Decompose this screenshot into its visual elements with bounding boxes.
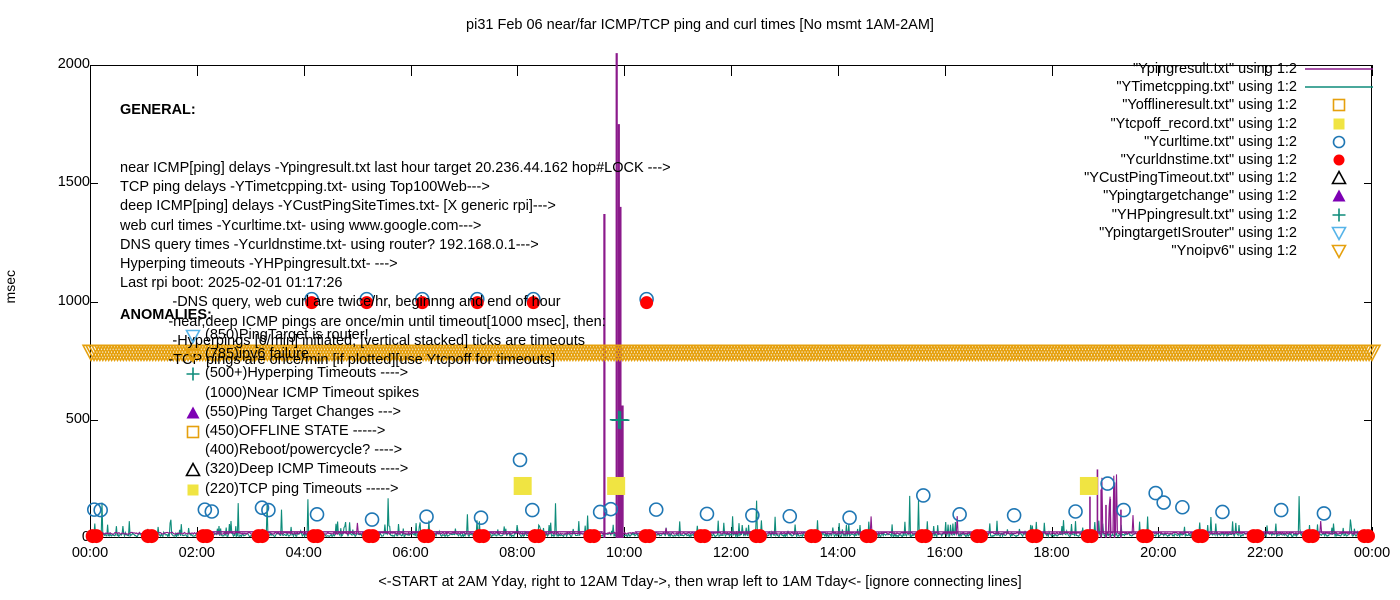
anomaly-marker-filled-square-icon: [183, 480, 203, 499]
legend-label: "Ytcpoff_record.txt" using 1:2: [1110, 115, 1297, 133]
legend-key-open-square-icon: [1303, 96, 1375, 114]
anomaly-row: (550)Ping Target Changes --->: [205, 403, 419, 422]
data-point-filled-circle: [421, 529, 435, 543]
anomaly-row: (450)OFFLINE STATE ----->: [205, 422, 419, 441]
y-tick-label: 2000: [30, 56, 90, 72]
data-point-filled-circle: [698, 529, 712, 543]
anomaly-marker-open-triangle-down-icon: [183, 326, 203, 345]
x-tick-label: 20:00: [1123, 545, 1193, 561]
general-note-line: Last rpi boot: 2025-02-01 01:17:26: [120, 274, 671, 293]
legend-key-filled-square-icon: [1303, 115, 1375, 133]
data-point-open-circle: [1008, 509, 1021, 522]
anomaly-label: (785)ipv6 failure: [205, 346, 309, 362]
data-point-open-circle: [420, 510, 433, 523]
data-point-open-circle: [917, 489, 930, 502]
legend-key-filled-circle-icon: [1303, 151, 1375, 169]
legend-item: "Ypingtargetchange" using 1:2: [1020, 187, 1375, 205]
legend-item: "Ytcpoff_record.txt" using 1:2: [1020, 115, 1375, 133]
anomalies-list: (850)PingTarget is router!(785)ipv6 fail…: [205, 326, 419, 499]
data-point-filled-circle: [642, 529, 656, 543]
anomaly-row: (785)ipv6 failure: [205, 345, 419, 364]
anomaly-label: (850)PingTarget is router!: [205, 327, 369, 343]
legend-key: [1303, 60, 1375, 78]
data-point-open-circle: [526, 504, 539, 517]
data-point-filled-circle: [255, 529, 269, 543]
legend-label: "Ycurldnstime.txt" using 1:2: [1121, 151, 1297, 169]
general-note-line: near ICMP[ping] delays -Ypingresult.txt …: [120, 159, 671, 178]
data-point-open-circle: [650, 503, 663, 516]
x-tick-label: 16:00: [910, 545, 980, 561]
data-point-open-circle: [1216, 505, 1229, 518]
legend-key-open-triangle-up-icon: [1303, 169, 1375, 187]
legend-key: [1303, 206, 1375, 224]
x-tick-label: 00:00: [1337, 545, 1400, 561]
general-note-line: TCP ping delays -YTimetcpping.txt- using…: [120, 178, 671, 197]
data-point-filled-circle: [753, 529, 767, 543]
data-point-filled-square: [1080, 477, 1098, 495]
legend-key: [1303, 115, 1375, 133]
legend-label: "Yofflineresult.txt" using 1:2: [1122, 96, 1297, 114]
data-point-filled-circle: [1195, 529, 1209, 543]
data-point-open-circle: [1117, 504, 1130, 517]
anomaly-marker-open-square-icon: [183, 422, 203, 441]
anomaly-row: (850)PingTarget is router!: [205, 326, 419, 345]
anomaly-row: (1000)Near ICMP Timeout spikes: [205, 384, 419, 403]
data-point-open-circle: [1275, 504, 1288, 517]
anomaly-label: (450)OFFLINE STATE ----->: [205, 423, 385, 439]
x-tick-label: 06:00: [376, 545, 446, 561]
legend-item: "Ycurldnstime.txt" using 1:2: [1020, 151, 1375, 169]
legend-key-plus-icon: [1303, 206, 1375, 224]
legend-key-line-icon: [1303, 60, 1375, 78]
data-point-filled-circle: [1306, 529, 1320, 543]
general-note-line: deep ICMP[ping] delays -YCustPingSiteTim…: [120, 197, 671, 216]
anomaly-row: (500+)Hyperping Timeouts ---->: [205, 364, 419, 383]
data-point-filled-circle: [1250, 529, 1264, 543]
data-point-open-circle: [1069, 505, 1082, 518]
anomaly-marker-plus-icon: [183, 364, 203, 383]
data-point-open-circle: [475, 511, 488, 524]
x-tick-label: 04:00: [269, 545, 339, 561]
data-point-filled-circle: [311, 529, 325, 543]
data-point-open-circle: [953, 508, 966, 521]
legend-item: "Ynoipv6" using 1:2: [1020, 242, 1375, 260]
legend: "Ypingresult.txt" using 1:2"YTimetcpping…: [1020, 60, 1375, 260]
data-point-open-circle: [366, 513, 379, 526]
data-point-filled-circle: [974, 529, 988, 543]
anomaly-row: (400)Reboot/powercycle? ---->: [205, 441, 419, 460]
x-tick-label: 00:00: [55, 545, 125, 561]
x-tick-label: 10:00: [589, 545, 659, 561]
legend-key: [1303, 187, 1375, 205]
legend-key: [1303, 224, 1375, 242]
data-point-plus: [611, 411, 629, 429]
data-point-filled-circle: [587, 529, 601, 543]
legend-key-open-circle-icon: [1303, 133, 1375, 151]
legend-label: "Ynoipv6" using 1:2: [1171, 242, 1297, 260]
legend-label: "Ypingtargetchange" using 1:2: [1103, 187, 1297, 205]
data-point-filled-circle: [200, 529, 214, 543]
general-note-line: Hyperping timeouts -YHPpingresult.txt- -…: [120, 255, 671, 274]
legend-label: "YHPpingresult.txt" using 1:2: [1112, 206, 1297, 224]
data-point-open-circle: [1317, 507, 1330, 520]
data-point-filled-circle: [1140, 529, 1154, 543]
data-point-filled-circle: [476, 529, 490, 543]
legend-label: "YpingtargetISrouter" using 1:2: [1099, 224, 1297, 242]
data-point-filled-circle: [1085, 529, 1099, 543]
general-note-line: DNS query times -Ycurldnstime.txt- using…: [120, 236, 671, 255]
data-point-filled-circle: [1361, 529, 1375, 543]
legend-item: "YpingtargetISrouter" using 1:2: [1020, 224, 1375, 242]
data-point-open-circle: [700, 507, 713, 520]
legend-key-filled-triangle-up-icon: [1303, 187, 1375, 205]
general-note-line: web curl times -Ycurltime.txt- using www…: [120, 217, 671, 236]
y-axis-label: msec: [2, 270, 18, 303]
x-tick-label: 02:00: [162, 545, 232, 561]
data-point-open-circle: [311, 508, 324, 521]
data-point-filled-circle: [1029, 529, 1043, 543]
data-point-open-circle: [1176, 501, 1189, 514]
legend-key: [1303, 169, 1375, 187]
y-tick-label: 1500: [30, 174, 90, 190]
legend-key: [1303, 133, 1375, 151]
x-tick-label: 08:00: [482, 545, 552, 561]
y-tick-label: 0: [30, 529, 90, 545]
data-point-filled-circle: [808, 529, 822, 543]
legend-item: "Ypingresult.txt" using 1:2: [1020, 60, 1375, 78]
legend-key-open-triangle-down-icon: [1303, 224, 1375, 242]
data-point-filled-circle: [532, 529, 546, 543]
legend-item: "Ycurltime.txt" using 1:2: [1020, 133, 1375, 151]
data-point-open-circle: [514, 453, 527, 466]
anomaly-label: (400)Reboot/powercycle? ---->: [205, 442, 402, 458]
data-point-filled-square: [514, 477, 532, 495]
legend-label: "Ypingresult.txt" using 1:2: [1133, 60, 1297, 78]
x-tick-label: 14:00: [803, 545, 873, 561]
legend-item: "YTimetcpping.txt" using 1:2: [1020, 78, 1375, 96]
legend-item: "YHPpingresult.txt" using 1:2: [1020, 206, 1375, 224]
legend-label: "Ycurltime.txt" using 1:2: [1144, 133, 1297, 151]
legend-item: "Yofflineresult.txt" using 1:2: [1020, 96, 1375, 114]
data-point-filled-circle: [145, 529, 159, 543]
legend-label: "YCustPingTimeout.txt" using 1:2: [1084, 169, 1297, 187]
legend-key: [1303, 78, 1375, 96]
data-point-open-circle: [783, 510, 796, 523]
x-tick-label: 18:00: [1017, 545, 1087, 561]
x-tick-label: 12:00: [696, 545, 766, 561]
legend-item: "YCustPingTimeout.txt" using 1:2: [1020, 169, 1375, 187]
data-point-filled-square: [607, 477, 625, 495]
anomaly-label: (220)TCP ping Timeouts ----->: [205, 481, 399, 497]
y-tick-label: 1000: [30, 293, 90, 309]
legend-key: [1303, 96, 1375, 114]
legend-key-open-triangle-down-icon: [1303, 242, 1375, 260]
legend-label: "YTimetcpping.txt" using 1:2: [1116, 78, 1297, 96]
anomaly-label: (500+)Hyperping Timeouts ---->: [205, 365, 408, 381]
data-point-filled-circle: [89, 529, 103, 543]
legend-key-line-icon: [1303, 78, 1375, 96]
data-point-filled-circle: [863, 529, 877, 543]
x-axis-caption: <-START at 2AM Yday, right to 12AM Tday-…: [0, 574, 1400, 590]
data-point-open-circle: [1157, 496, 1170, 509]
general-header: GENERAL:: [120, 101, 671, 120]
anomaly-marker-open-triangle-up-icon: [183, 460, 203, 479]
anomaly-label: (550)Ping Target Changes --->: [205, 404, 401, 420]
anomaly-label: (1000)Near ICMP Timeout spikes: [205, 385, 419, 401]
data-point-filled-circle: [366, 529, 380, 543]
anomaly-marker-open-triangle-down-icon: [183, 345, 203, 364]
anomaly-row: (320)Deep ICMP Timeouts ---->: [205, 460, 419, 479]
data-point-filled-circle: [919, 529, 933, 543]
anomaly-row: (220)TCP ping Timeouts ----->: [205, 480, 419, 499]
data-point-open-circle: [1101, 477, 1114, 490]
x-tick-label: 22:00: [1230, 545, 1300, 561]
anomaly-label: (320)Deep ICMP Timeouts ---->: [205, 461, 408, 477]
legend-key: [1303, 151, 1375, 169]
y-tick-label: 500: [30, 411, 90, 427]
chart-title: pi31 Feb 06 near/far ICMP/TCP ping and c…: [0, 17, 1400, 33]
anomaly-marker-filled-triangle-up-icon: [183, 403, 203, 422]
anomalies-header: ANOMALIES:: [120, 307, 212, 323]
data-point-open-circle: [843, 511, 856, 524]
legend-key: [1303, 242, 1375, 260]
